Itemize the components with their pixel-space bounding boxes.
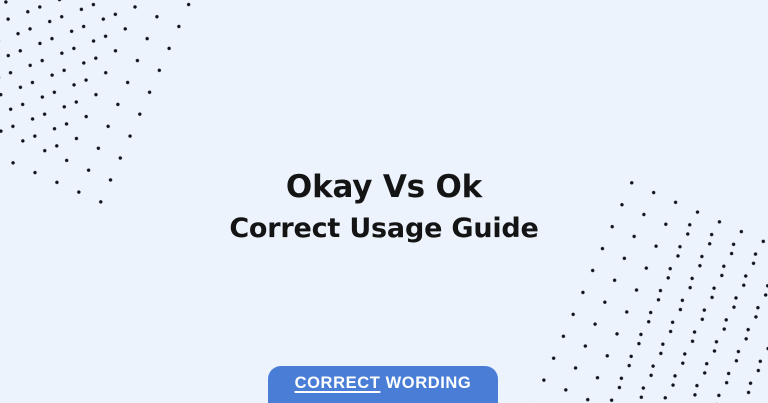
page-subtitle: Correct Usage Guide xyxy=(0,212,768,245)
top-left-dot-pattern-icon xyxy=(0,0,153,151)
brand-badge-button[interactable]: CORRECT WORDING xyxy=(268,366,498,403)
headline-block: Okay Vs Ok Correct Usage Guide xyxy=(0,168,768,246)
brand-badge-label: CORRECT WORDING xyxy=(295,374,472,393)
banner-canvas: Okay Vs Ok Correct Usage Guide CORRECT W… xyxy=(0,0,768,403)
brand-badge-word-primary: CORRECT xyxy=(295,374,381,392)
brand-badge-word-secondary: WORDING xyxy=(380,374,471,392)
page-title: Okay Vs Ok xyxy=(0,168,768,206)
